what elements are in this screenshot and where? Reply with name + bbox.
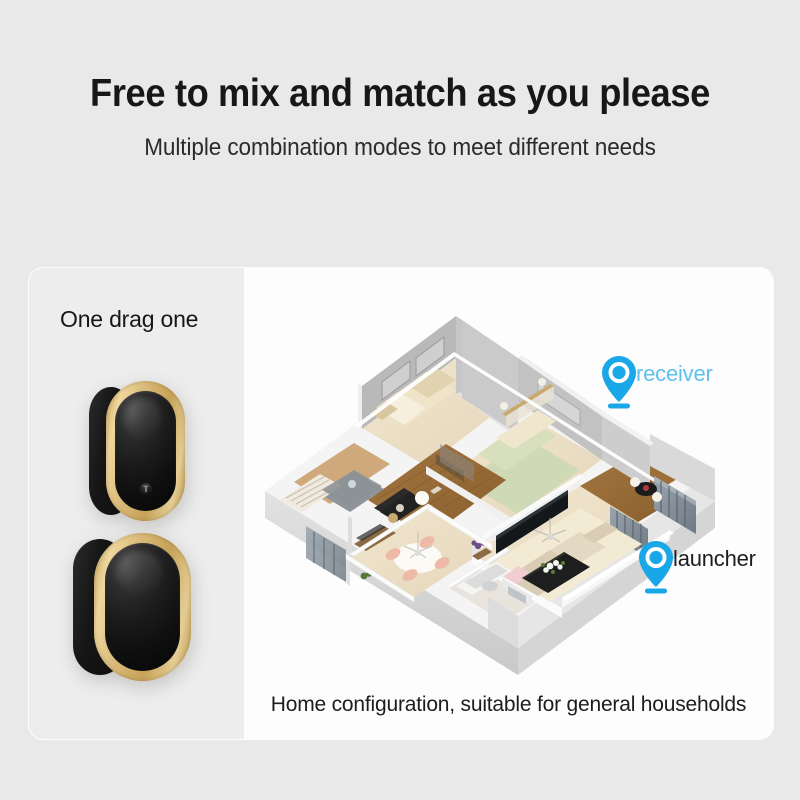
pin-label-receiver: receiver	[636, 361, 713, 387]
device-front-face	[115, 391, 176, 511]
doorbell-push-button	[140, 483, 152, 495]
doorbell-button-transmitter	[89, 381, 185, 521]
floorplan-panel: receiver launcher Home configuration, su…	[244, 268, 773, 739]
headline-block: Free to mix and match as you please Mult…	[0, 72, 800, 162]
floorplan-illustration	[250, 286, 730, 676]
page-title: Free to mix and match as you please	[28, 72, 772, 116]
floorplan-caption: Home configuration, suitable for general…	[244, 693, 773, 717]
device-highlight	[116, 551, 162, 594]
map-pin-launcher[interactable]: launcher	[636, 540, 756, 596]
device-gold-bezel	[94, 533, 191, 681]
combination-mode-panel: One drag one	[29, 268, 244, 739]
doorbell-chime-receiver	[73, 533, 191, 681]
combination-mode-title: One drag one	[60, 306, 198, 333]
page-subtitle: Multiple combination modes to meet diffe…	[24, 134, 776, 162]
feature-card: One drag one	[29, 268, 773, 739]
pin-label-launcher: launcher	[673, 546, 756, 572]
device-highlight	[124, 398, 162, 439]
device-stack	[29, 373, 244, 723]
location-pin-icon	[599, 355, 639, 411]
map-pin-receiver[interactable]: receiver	[599, 355, 713, 411]
location-pin-icon	[636, 540, 676, 596]
device-front-face	[105, 543, 179, 670]
isometric-apartment-floorplan	[250, 286, 730, 676]
device-gold-bezel	[106, 381, 185, 521]
person-icon	[145, 487, 147, 492]
